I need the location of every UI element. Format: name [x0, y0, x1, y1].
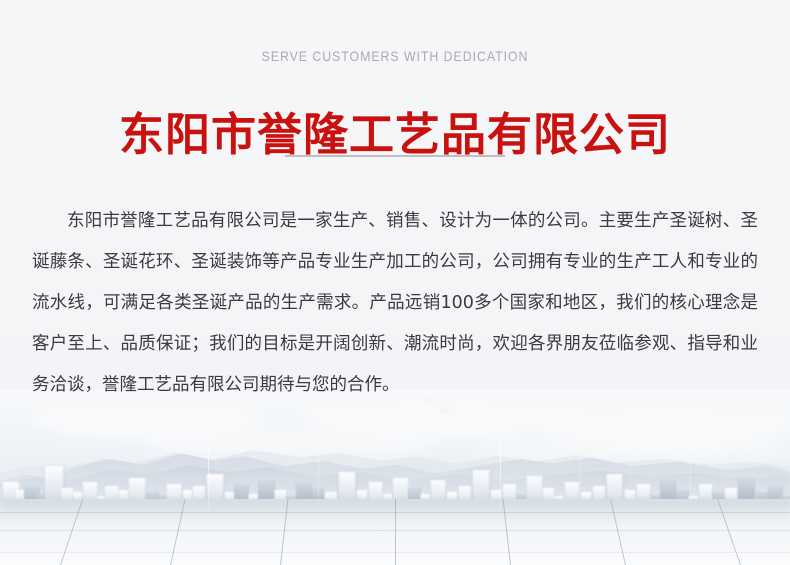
company-description: 东阳市誉隆工艺品有限公司是一家生产、销售、设计为一体的公司。主要生产圣诞树、圣诞… — [32, 201, 758, 406]
banner-content: SERVE CUSTOMERS WITH DEDICATION 东阳市誉隆工艺品… — [0, 0, 790, 565]
page-title: 东阳市誉隆工艺品有限公司 — [0, 109, 790, 161]
title-divider — [285, 155, 505, 157]
tagline: SERVE CUSTOMERS WITH DEDICATION — [47, 48, 742, 64]
company-profile-banner: SERVE CUSTOMERS WITH DEDICATION 东阳市誉隆工艺品… — [0, 0, 790, 565]
